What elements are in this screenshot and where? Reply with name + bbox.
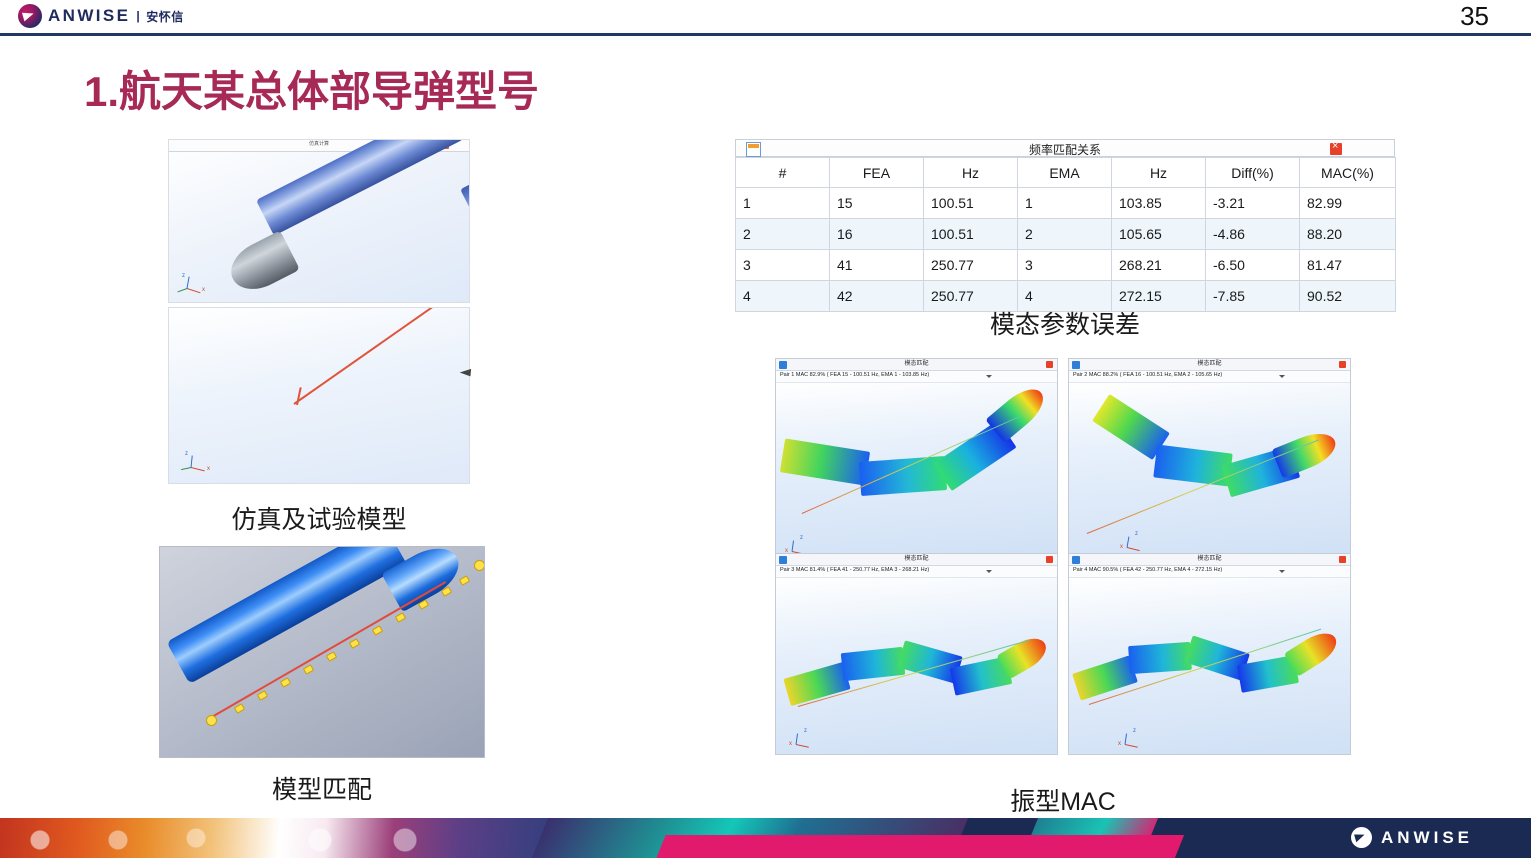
- cell-mac: 82.99: [1300, 188, 1396, 219]
- chevron-down-icon[interactable]: [986, 375, 992, 378]
- mode-band-segment: [780, 438, 870, 485]
- page-number: 35: [1460, 1, 1489, 32]
- test-model-viewport: x z: [168, 307, 470, 484]
- cell-fea-hz: 100.51: [924, 188, 1018, 219]
- cell-diff: -4.86: [1206, 219, 1300, 250]
- sensor-marker: [372, 625, 383, 636]
- mode-shape-canvas: x z: [1069, 383, 1350, 560]
- sensor-marker: [326, 651, 337, 662]
- mode-window-title: 模态匹配: [1069, 554, 1350, 565]
- anwise-swoosh-icon: [1351, 827, 1372, 848]
- cell-diff: -6.50: [1206, 250, 1300, 281]
- cell-ema-hz: 105.65: [1112, 219, 1206, 250]
- beam-tail-shape: [296, 387, 302, 405]
- mode-shape-window-4[interactable]: 模态匹配 Pair 4 MAC 90.5% ( FEA 42 - 250.77 …: [1068, 553, 1351, 755]
- col-fea-hz: Hz: [924, 158, 1018, 188]
- sensor-endpoint: [474, 560, 485, 571]
- mode-shape-window-2[interactable]: 模态匹配 Pair 2 MAC 88.2% ( FEA 16 - 100.51 …: [1068, 358, 1351, 560]
- axis-triad-icon: x z: [179, 268, 213, 296]
- mode-window-title: 模态匹配: [776, 554, 1057, 565]
- col-ema-hz: Hz: [1112, 158, 1206, 188]
- table-row[interactable]: 3 41 250.77 3 268.21 -6.50 81.47: [736, 250, 1396, 281]
- mode-band-segment: [1284, 626, 1342, 676]
- col-index: #: [736, 158, 830, 188]
- brand-logo-separator: |: [136, 9, 140, 23]
- brand-logo: ANWISE | 安怀信: [18, 4, 184, 28]
- cell-fea-hz: 100.51: [924, 219, 1018, 250]
- col-fea: FEA: [830, 158, 924, 188]
- mode-band-segment: [1128, 642, 1192, 674]
- cell-mac: 81.47: [1300, 250, 1396, 281]
- frequency-match-window: 频率匹配关系 # FEA Hz EMA Hz Diff(%) MAC(%) 1 …: [735, 139, 1395, 299]
- close-icon[interactable]: [1046, 361, 1053, 368]
- axis-triad-icon: x z: [183, 447, 217, 475]
- missile-body-shape: [256, 139, 470, 236]
- mode-window-titlebar: 模态匹配: [776, 359, 1057, 371]
- sensor-marker: [303, 664, 314, 675]
- sensor-endpoint: [206, 715, 217, 726]
- axis-triad-icon: x z: [788, 726, 822, 754]
- sensor-marker: [280, 677, 291, 688]
- missile-nose-shape: [223, 230, 300, 298]
- mode-pair-info: Pair 1 MAC 82.9% ( FEA 15 - 100.51 Hz, E…: [780, 372, 929, 378]
- sensor-marker: [234, 703, 245, 714]
- cell-ema: 2: [1018, 219, 1112, 250]
- col-diff: Diff(%): [1206, 158, 1300, 188]
- simulation-model-viewport: 仿真计算 x z: [168, 139, 470, 303]
- col-ema: EMA: [1018, 158, 1112, 188]
- mode-info-bar[interactable]: Pair 2 MAC 88.2% ( FEA 16 - 100.51 Hz, E…: [1069, 371, 1350, 383]
- mode-band-segment: [1271, 427, 1340, 479]
- cell-fea: 15: [830, 188, 924, 219]
- close-icon[interactable]: [1046, 556, 1053, 563]
- anwise-swoosh-icon: [18, 4, 42, 28]
- sensor-marker: [257, 690, 268, 701]
- mode-pair-info: Pair 2 MAC 88.2% ( FEA 16 - 100.51 Hz, E…: [1073, 372, 1222, 378]
- table-row[interactable]: 1 15 100.51 1 103.85 -3.21 82.99: [736, 188, 1396, 219]
- beam-line-shape: [293, 307, 435, 405]
- footer-decor-left: [0, 818, 560, 858]
- cell-ema-hz: 268.21: [1112, 250, 1206, 281]
- cell-mac: 88.20: [1300, 219, 1396, 250]
- close-icon[interactable]: [1339, 361, 1346, 368]
- cell-fea: 41: [830, 250, 924, 281]
- cell-index: 1: [736, 188, 830, 219]
- cell-fea-hz: 250.77: [924, 250, 1018, 281]
- header-divider: [0, 33, 1531, 36]
- page-title: 1.航天某总体部导弹型号: [84, 58, 539, 119]
- mode-window-title: 模态匹配: [1069, 359, 1350, 370]
- mode-band-segment: [1072, 655, 1138, 700]
- footer-brand-text: ANWISE: [1381, 828, 1473, 848]
- sensor-marker: [395, 612, 406, 623]
- brand-logo-text: ANWISE: [48, 6, 130, 26]
- table-row[interactable]: 2 16 100.51 2 105.65 -4.86 88.20: [736, 219, 1396, 250]
- mode-info-bar[interactable]: Pair 4 MAC 90.5% ( FEA 42 - 250.77 Hz, E…: [1069, 566, 1350, 578]
- frequency-match-table: # FEA Hz EMA Hz Diff(%) MAC(%) 1 15 100.…: [735, 157, 1396, 312]
- cell-ema-hz: 103.85: [1112, 188, 1206, 219]
- caption-simulation-model: 仿真及试验模型: [168, 500, 470, 536]
- brand-logo-chinese: 安怀信: [146, 8, 184, 25]
- missile-tail-shape: [460, 179, 470, 228]
- mode-shape-canvas: x z: [776, 383, 1057, 560]
- frequency-table-title: 频率匹配关系: [736, 141, 1394, 158]
- table-header-row: # FEA Hz EMA Hz Diff(%) MAC(%): [736, 158, 1396, 188]
- close-icon[interactable]: [1330, 143, 1342, 155]
- caption-model-match: 模型匹配: [159, 770, 485, 806]
- chevron-down-icon[interactable]: [1279, 570, 1285, 573]
- mode-shape-window-1[interactable]: 模态匹配 Pair 1 MAC 82.9% ( FEA 15 - 100.51 …: [775, 358, 1058, 560]
- sensor-marker: [459, 575, 470, 586]
- mode-window-title: 模态匹配: [776, 359, 1057, 370]
- cell-fea: 16: [830, 219, 924, 250]
- mode-info-bar[interactable]: Pair 1 MAC 82.9% ( FEA 15 - 100.51 Hz, E…: [776, 371, 1057, 383]
- frequency-table-titlebar: 频率匹配关系: [735, 139, 1395, 157]
- mode-shape-canvas: x z: [1069, 578, 1350, 755]
- mode-pair-info: Pair 3 MAC 81.4% ( FEA 41 - 250.77 Hz, E…: [780, 567, 929, 573]
- cell-diff: -3.21: [1206, 188, 1300, 219]
- viewport-title: 仿真计算: [309, 140, 329, 147]
- mode-band-segment: [841, 647, 906, 681]
- missile-body-shape: [166, 546, 406, 684]
- footer-brand-logo: ANWISE: [1351, 827, 1473, 848]
- mode-window-titlebar: 模态匹配: [1069, 554, 1350, 566]
- mode-info-bar[interactable]: Pair 3 MAC 81.4% ( FEA 41 - 250.77 Hz, E…: [776, 566, 1057, 578]
- cell-index: 3: [736, 250, 830, 281]
- close-icon[interactable]: [1339, 556, 1346, 563]
- chevron-down-icon[interactable]: [1279, 375, 1285, 378]
- mode-shape-window-3[interactable]: 模态匹配 Pair 3 MAC 81.4% ( FEA 41 - 250.77 …: [775, 553, 1058, 755]
- slide-header: ANWISE | 安怀信 35: [0, 0, 1531, 33]
- cell-index: 2: [736, 219, 830, 250]
- chevron-down-icon[interactable]: [986, 570, 992, 573]
- slide-footer: ANWISE: [0, 818, 1531, 858]
- cell-ema: 1: [1018, 188, 1112, 219]
- caption-mode-mac: 振型MAC: [775, 782, 1351, 818]
- mode-pair-info: Pair 4 MAC 90.5% ( FEA 42 - 250.77 Hz, E…: [1073, 567, 1222, 573]
- cell-ema: 3: [1018, 250, 1112, 281]
- mode-shape-canvas: x z: [776, 578, 1057, 755]
- mode-window-titlebar: 模态匹配: [776, 554, 1057, 566]
- col-mac: MAC(%): [1300, 158, 1396, 188]
- model-match-image: [159, 546, 485, 758]
- mode-window-titlebar: 模态匹配: [1069, 359, 1350, 371]
- sensor-marker: [349, 638, 360, 649]
- footer-decor-pink: [654, 835, 1185, 858]
- caption-modal-error: 模态参数误差: [735, 305, 1395, 341]
- axis-triad-icon: x z: [1117, 726, 1151, 754]
